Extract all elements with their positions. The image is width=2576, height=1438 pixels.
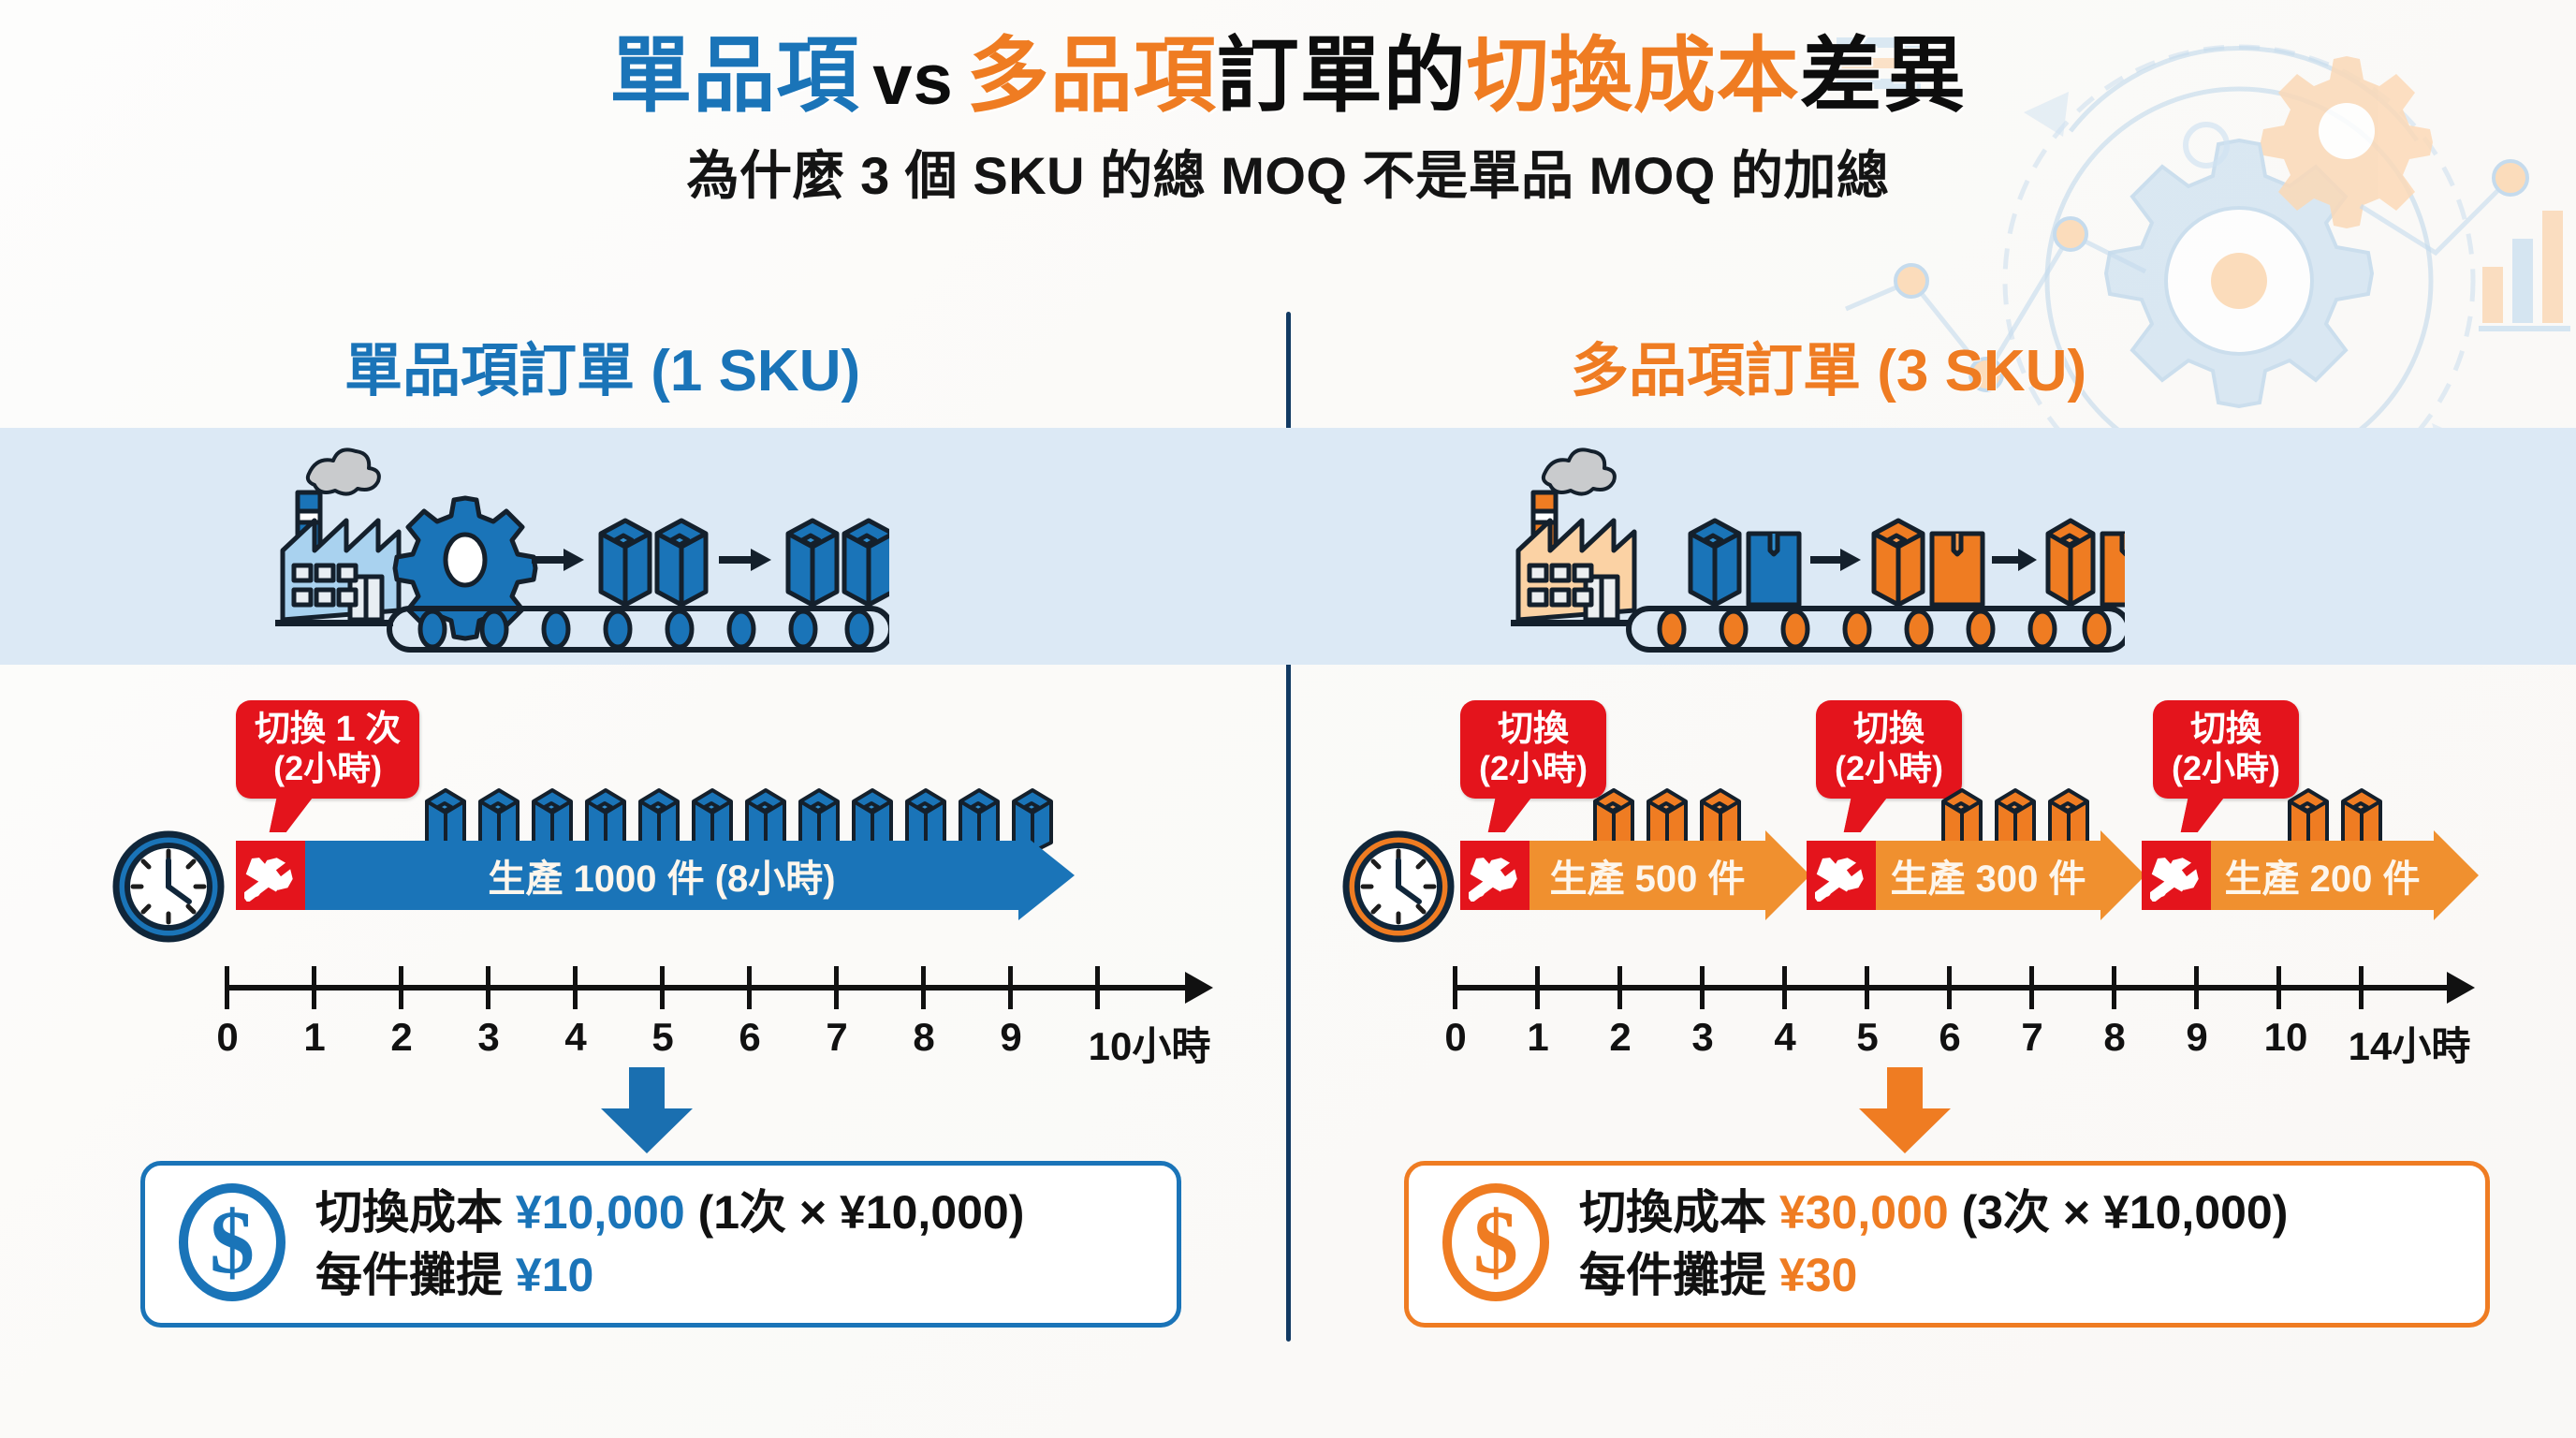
right-cost-note: (3次 × ¥10,000) [1962, 1186, 2289, 1239]
box-icon [1690, 521, 1739, 605]
axis-tick-label: 4 [1774, 1015, 1795, 1060]
badge-line2: (2小時) [1835, 750, 1943, 787]
box-icon [788, 521, 837, 605]
right-production-segment-1: 生產 500 件 [1460, 841, 1810, 910]
box-icon [1932, 534, 1983, 605]
axis-tick-label: 8 [2103, 1015, 2125, 1060]
left-clock-icon [110, 829, 227, 949]
right-result-line1: 切換成本 ¥30,000 (3次 × ¥10,000) [1579, 1181, 2288, 1244]
conveyor-rollers [420, 611, 871, 647]
left-time-axis: 0 1 2 3 4 5 6 7 8 9 10小時 [225, 961, 1234, 1026]
left-unit-amount: ¥10 [516, 1249, 593, 1301]
deco-gear-hub [2211, 253, 2267, 309]
left-cost-amount: ¥10,000 [516, 1186, 685, 1239]
box-icon [2048, 521, 2093, 605]
badge-line1: 切換 [1479, 710, 1588, 750]
badge-line1: 切換 [1835, 710, 1943, 750]
axis-tick-label: 7 [826, 1015, 847, 1060]
box-icon [601, 521, 650, 605]
left-illustration [271, 440, 889, 660]
left-production-segment: 生產 1000 件 (8小時) [236, 841, 1075, 910]
axis-tick-label: 1 [303, 1015, 325, 1060]
smoke-icon [1544, 449, 1615, 493]
arrow-right-icon [719, 549, 771, 571]
axis-tick-label: 6 [1939, 1015, 1960, 1060]
conveyor-rollers [1660, 611, 2109, 647]
title-seg-order: 訂單的 [1217, 29, 1467, 122]
right-production-label-3: 生產 200 件 [2211, 841, 2434, 910]
left-cost-label: 切換成本 [315, 1186, 503, 1239]
right-production-label-2: 生產 300 件 [1876, 841, 2100, 910]
axis-tick-label: 0 [1444, 1015, 1466, 1060]
left-result-line2: 每件攤提 ¥10 [315, 1244, 1024, 1307]
axis-tick-label: 9 [2186, 1015, 2207, 1060]
right-result-line2: 每件攤提 ¥30 [1579, 1244, 2288, 1307]
left-production-label: 生產 1000 件 (8小時) [305, 841, 1018, 910]
badge-line1: 切換 [2172, 710, 2280, 750]
left-illustration-svg [271, 440, 889, 655]
right-illustration [1507, 440, 2125, 660]
factory-icon [275, 492, 399, 626]
title-seg-diff: 差異 [1800, 29, 1967, 122]
title-block: 單品項vs多品項訂單的切換成本差異 為什麼 3 個 SKU 的總 MOQ 不是單… [0, 32, 2576, 210]
axis-tick-label: 3 [477, 1015, 499, 1060]
axis-tick-label: 2 [1609, 1015, 1631, 1060]
right-result-box: $ 切換成本 ¥30,000 (3次 × ¥10,000) 每件攤提 ¥30 [1404, 1161, 2490, 1328]
right-unit-label: 每件攤提 [1579, 1249, 1766, 1301]
arrow-right-icon [1992, 549, 2037, 571]
axis-tick-label: 5 [1856, 1015, 1878, 1060]
left-result-line1: 切換成本 ¥10,000 (1次 × ¥10,000) [315, 1181, 1024, 1244]
right-down-arrow-icon [1853, 1067, 1956, 1158]
left-result-box: $ 切換成本 ¥10,000 (1次 × ¥10,000) 每件攤提 ¥10 [140, 1161, 1181, 1328]
right-production-label-1: 生產 500 件 [1529, 841, 1765, 910]
badge-line2: (2小時) [1479, 750, 1588, 787]
box-icon [844, 521, 889, 605]
axis-tick-label: 2 [390, 1015, 412, 1060]
title-seg-cost: 切換成本 [1467, 29, 1800, 122]
right-production-segment-2: 生產 300 件 [1807, 841, 2145, 910]
left-column-header: 單品項訂單 (1 SKU) [344, 323, 860, 407]
dollar-coin-icon: $ [1441, 1182, 1551, 1307]
right-unit-amount: ¥30 [1779, 1249, 1857, 1301]
box-icon [2102, 534, 2125, 605]
right-column-header: 多品項訂單 (3 SKU) [1571, 323, 2086, 407]
factory-icon [1511, 492, 1634, 626]
axis-tick-label: 10 [2264, 1015, 2308, 1060]
gear-icon [395, 498, 535, 638]
tools-icon [1460, 841, 1529, 910]
axis-tick-label: 5 [651, 1015, 673, 1060]
badge-line1: 切換 1 次 [255, 710, 401, 750]
axis-tick-label: 3 [1691, 1015, 1713, 1060]
svg-text:$: $ [210, 1192, 255, 1292]
axis-tick-label: 6 [739, 1015, 760, 1060]
title-seg-multi: 多品項 [967, 29, 1217, 122]
axis-tick-label: 4 [564, 1015, 586, 1060]
axis-tick-label: 7 [2021, 1015, 2042, 1060]
arrow-right-icon [532, 549, 584, 571]
axis-tick-label: 9 [1000, 1015, 1021, 1060]
left-cost-note: (1次 × ¥10,000) [698, 1186, 1025, 1239]
axis-tick-label: 0 [216, 1015, 238, 1060]
left-switch-badge: 切換 1 次 (2小時) [236, 700, 419, 799]
axis-tick-label: 14小時 [2349, 1015, 2471, 1072]
left-unit-label: 每件攤提 [315, 1249, 503, 1301]
svg-text:$: $ [1473, 1192, 1518, 1292]
right-switch-badge-3: 切換 (2小時) [2153, 700, 2299, 799]
axis-tick-label: 10小時 [1089, 1015, 1211, 1072]
right-time-axis: 0 1 2 3 4 5 6 7 8 9 10 14小時 [1453, 961, 2501, 1026]
box-icon [1874, 521, 1923, 605]
left-down-arrow-icon [595, 1067, 698, 1158]
box-icon [1749, 534, 1799, 605]
axis-tick-label: 8 [913, 1015, 934, 1060]
arrow-right-icon [1810, 549, 1861, 571]
page-subtitle: 為什麼 3 個 SKU 的總 MOQ 不是單品 MOQ 的加總 [0, 134, 2576, 210]
right-illustration-svg [1507, 440, 2125, 655]
badge-line2: (2小時) [2172, 750, 2280, 787]
right-production-segment-3: 生產 200 件 [2142, 841, 2479, 910]
box-icon [657, 521, 706, 605]
title-seg-single: 單品項 [609, 29, 859, 122]
right-cost-label: 切換成本 [1579, 1186, 1766, 1239]
infographic-canvas: 單品項vs多品項訂單的切換成本差異 為什麼 3 個 SKU 的總 MOQ 不是單… [0, 0, 2576, 1438]
page-title: 單品項vs多品項訂單的切換成本差異 [0, 32, 2576, 119]
right-switch-badge-1: 切換 (2小時) [1460, 700, 1606, 799]
right-cost-amount: ¥30,000 [1779, 1186, 1949, 1239]
tools-icon [1807, 841, 1876, 910]
axis-tick-label: 1 [1527, 1015, 1548, 1060]
tools-icon [236, 841, 305, 910]
smoke-icon [308, 449, 379, 493]
badge-line2: (2小時) [255, 750, 401, 787]
right-clock-icon [1340, 829, 1456, 949]
tools-icon [2142, 841, 2211, 910]
dollar-coin-icon: $ [177, 1182, 287, 1307]
title-vs: vs [859, 40, 967, 120]
